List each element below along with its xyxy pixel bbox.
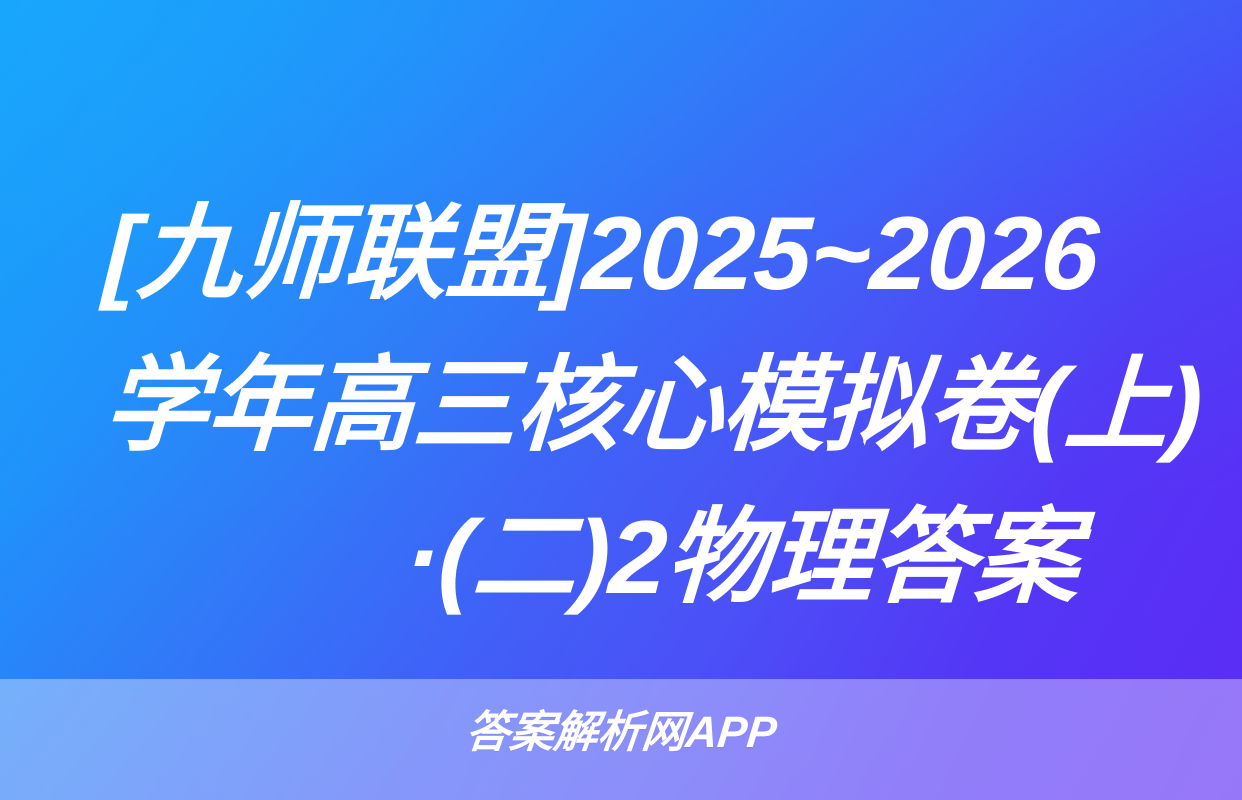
poster-canvas: [九师联盟]2025~2026 学年高三核心模拟卷(上) ·(二)2物理答案 答… bbox=[0, 0, 1242, 800]
poster-title: [九师联盟]2025~2026 学年高三核心模拟卷(上) ·(二)2物理答案 bbox=[0, 178, 1242, 634]
title-line-3: ·(二)2物理答案 bbox=[100, 482, 1168, 634]
watermark-label: 答案解析网APP bbox=[463, 705, 779, 761]
title-line-1: [九师联盟]2025~2026 bbox=[100, 178, 1168, 330]
watermark: 答案解析网APP bbox=[0, 705, 1242, 761]
title-line-2: 学年高三核心模拟卷(上) bbox=[100, 330, 1168, 482]
